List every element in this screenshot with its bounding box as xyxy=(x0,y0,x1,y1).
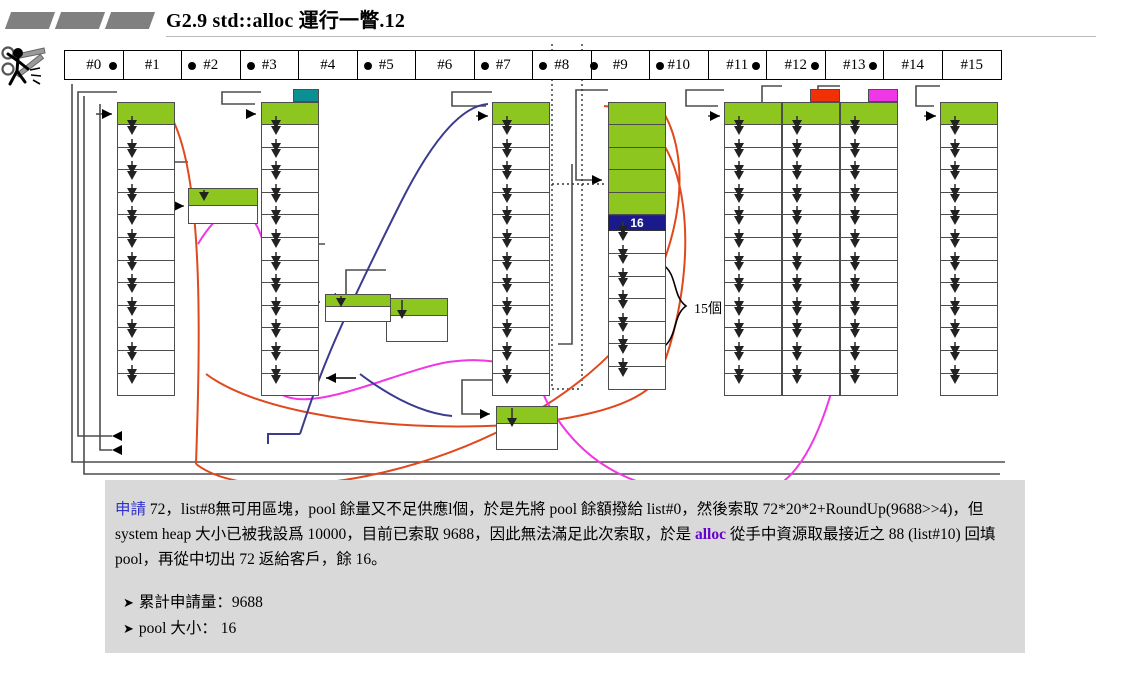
bucket-pointer-dot xyxy=(188,62,196,70)
next-pointer-arrow xyxy=(841,250,899,272)
list-chain-0 xyxy=(117,102,175,396)
next-pointer-arrow xyxy=(841,227,899,249)
bucket-pointer-dot xyxy=(364,62,372,70)
next-pointer-arrow xyxy=(262,340,320,362)
next-pointer-arrow xyxy=(841,340,899,362)
list-chain-7 xyxy=(492,102,550,396)
next-pointer-arrow xyxy=(783,340,841,362)
next-pointer-arrow xyxy=(493,114,551,136)
bucket-cell-5[interactable]: #5 xyxy=(358,51,417,79)
free-block-body xyxy=(386,316,448,342)
title-divider xyxy=(166,36,1096,37)
bucket-label: #5 xyxy=(379,57,394,74)
bucket-cell-1[interactable]: #1 xyxy=(124,51,183,79)
next-pointer-arrow xyxy=(841,295,899,317)
next-pointer-arrow xyxy=(118,363,176,385)
next-pointer-arrow xyxy=(262,250,320,272)
bucket-cell-7[interactable]: #7 xyxy=(475,51,534,79)
free-block-body xyxy=(325,307,391,322)
next-pointer-arrow xyxy=(262,272,320,294)
bucket-cell-8[interactable]: #8 xyxy=(533,51,592,79)
chain-cap-block xyxy=(293,89,319,102)
bucket-label: #8 xyxy=(554,57,569,74)
bucket-label: #7 xyxy=(496,57,511,74)
bucket-pointer-dot xyxy=(752,62,760,70)
bullet-total-requested: ➤累計申請量：9688 xyxy=(123,590,263,612)
next-pointer-arrow xyxy=(262,182,320,204)
chain-cap-block xyxy=(810,89,840,102)
next-pointer-arrow xyxy=(941,182,999,204)
bucket-pointer-dot xyxy=(811,62,819,70)
next-pointer-arrow xyxy=(725,204,783,226)
free-block-body xyxy=(188,206,258,224)
summary-bullets: ➤累計申請量：9688 ➤pool 大小： 16 xyxy=(105,585,1025,645)
bucket-label: #9 xyxy=(613,57,628,74)
next-pointer-arrow xyxy=(941,114,999,136)
next-pointer-arrow xyxy=(118,272,176,294)
bucket-cell-14[interactable]: #14 xyxy=(884,51,943,79)
next-pointer-arrow xyxy=(118,317,176,339)
bucket-label: #6 xyxy=(437,57,452,74)
link-navy-2 xyxy=(268,434,300,444)
free-node xyxy=(724,374,782,397)
next-pointer-arrow xyxy=(725,114,783,136)
bucket-pointer-dot xyxy=(590,62,598,70)
free-block-b xyxy=(386,298,448,342)
list-chain-11 xyxy=(724,102,782,396)
next-pointer-arrow xyxy=(725,295,783,317)
next-pointer-arrow xyxy=(941,363,999,385)
next-pointer-arrow xyxy=(725,363,783,385)
next-pointer-arrow xyxy=(941,340,999,362)
stick-figure-icon xyxy=(0,44,46,90)
next-pointer-arrow xyxy=(262,137,320,159)
bucket-label: #15 xyxy=(961,57,984,74)
allocator-diagram: #0#1#2#3#4#5#6#7#8#9#10#11#12#13#14#15 1… xyxy=(0,44,1136,484)
bucket-label: #14 xyxy=(902,57,925,74)
next-pointer-arrow xyxy=(783,272,841,294)
next-pointer-arrow xyxy=(118,159,176,181)
bullet-marker: ➤ xyxy=(123,622,134,637)
next-pointer-arrow xyxy=(493,137,551,159)
next-pointer-arrow xyxy=(493,317,551,339)
next-pointer-arrow xyxy=(609,333,667,355)
next-pointer-arrow xyxy=(262,363,320,385)
parallelogram-decoration-2 xyxy=(55,12,105,29)
allocated-block xyxy=(608,125,666,148)
bucket-pointer-dot xyxy=(869,62,877,70)
link-magenta-4 xyxy=(546,400,760,484)
next-pointer-arrow xyxy=(725,250,783,272)
next-pointer-arrow xyxy=(493,204,551,226)
allocated-block xyxy=(608,193,666,216)
next-pointer-arrow xyxy=(841,114,899,136)
next-pointer-arrow xyxy=(493,295,551,317)
next-pointer-arrow xyxy=(841,317,899,339)
next-pointer-arrow xyxy=(325,294,391,309)
bucket-cell-10[interactable]: #10 xyxy=(650,51,709,79)
bucket-cell-6[interactable]: #6 xyxy=(416,51,475,79)
next-pointer-arrow xyxy=(609,266,667,288)
next-pointer-arrow xyxy=(188,188,258,206)
next-pointer-arrow xyxy=(941,159,999,181)
bucket-pointer-dot xyxy=(656,62,664,70)
bucket-label: #2 xyxy=(203,57,218,74)
bucket-cell-15[interactable]: #15 xyxy=(943,51,1002,79)
next-pointer-arrow xyxy=(262,159,320,181)
allocated-block xyxy=(608,148,666,171)
next-pointer-arrow xyxy=(386,298,448,324)
next-pointer-arrow xyxy=(496,406,558,432)
next-pointer-arrow xyxy=(841,272,899,294)
next-pointer-arrow xyxy=(783,204,841,226)
next-pointer-arrow xyxy=(941,227,999,249)
next-pointer-arrow xyxy=(493,250,551,272)
next-pointer-arrow xyxy=(725,272,783,294)
link-magenta-1 xyxy=(198,210,270,354)
bullet-pool-size: ➤pool 大小： 16 xyxy=(123,616,236,638)
bullet-marker: ➤ xyxy=(123,596,134,611)
next-pointer-arrow xyxy=(783,227,841,249)
bucket-pointer-dot xyxy=(247,62,255,70)
next-pointer-arrow xyxy=(118,114,176,136)
free-node xyxy=(840,374,898,397)
free-block-d xyxy=(325,294,391,322)
next-pointer-arrow xyxy=(841,137,899,159)
bucket-label: #1 xyxy=(145,57,160,74)
bucket-label: #13 xyxy=(843,57,866,74)
next-pointer-arrow xyxy=(609,311,667,333)
next-pointer-arrow xyxy=(493,363,551,385)
bullet-text: 累計申請量：9688 xyxy=(139,594,263,611)
next-pointer-arrow xyxy=(118,137,176,159)
bucket-pointer-dot xyxy=(481,62,489,70)
next-pointer-arrow xyxy=(493,227,551,249)
free-list-bucket-header: #0#1#2#3#4#5#6#7#8#9#10#11#12#13#14#15 xyxy=(64,50,1002,80)
bucket-label: #0 xyxy=(86,57,101,74)
next-pointer-arrow xyxy=(118,250,176,272)
free-block-body xyxy=(496,424,558,450)
next-pointer-arrow xyxy=(118,295,176,317)
parallelogram-decoration-3 xyxy=(105,12,155,29)
free-node xyxy=(492,374,550,397)
bucket-label: #3 xyxy=(262,57,277,74)
next-pointer-arrow xyxy=(783,182,841,204)
bucket-label: #4 xyxy=(320,57,335,74)
explanation-panel: 申請 72，list#8無可用區塊，pool 餘量又不足供應l個，於是先將 po… xyxy=(105,489,1025,561)
bucket-cell-12[interactable]: #12 xyxy=(767,51,826,79)
next-pointer-arrow xyxy=(725,182,783,204)
next-pointer-arrow xyxy=(783,114,841,136)
next-pointer-arrow xyxy=(118,204,176,226)
next-pointer-arrow xyxy=(118,340,176,362)
free-block-a xyxy=(188,188,258,224)
free-node xyxy=(117,374,175,397)
next-pointer-arrow xyxy=(841,204,899,226)
next-pointer-arrow xyxy=(493,272,551,294)
link-navy-3 xyxy=(360,374,452,416)
free-node xyxy=(940,374,998,397)
next-pointer-arrow xyxy=(118,227,176,249)
bucket-cell-3[interactable]: #3 xyxy=(241,51,300,79)
next-pointer-arrow xyxy=(609,288,667,310)
next-pointer-arrow xyxy=(262,114,320,136)
page-title: G2.9 std::alloc 運行一瞥.12 xyxy=(166,4,405,33)
next-pointer-arrow xyxy=(841,363,899,385)
bucket-cell-9[interactable]: #9 xyxy=(592,51,651,79)
free-node xyxy=(782,374,840,397)
bucket-cell-0[interactable]: #0 xyxy=(65,51,124,79)
next-pointer-arrow xyxy=(941,250,999,272)
next-pointer-arrow xyxy=(725,159,783,181)
note-segment-purple: alloc xyxy=(695,526,726,543)
next-pointer-arrow xyxy=(725,317,783,339)
next-pointer-arrow xyxy=(262,295,320,317)
next-pointer-arrow xyxy=(262,317,320,339)
next-pointer-arrow xyxy=(783,137,841,159)
next-pointer-arrow xyxy=(725,137,783,159)
bucket-cell-11[interactable]: #11 xyxy=(709,51,768,79)
free-block-c xyxy=(496,406,558,450)
bullet-text: pool 大小： 16 xyxy=(139,620,236,637)
next-pointer-arrow xyxy=(609,356,667,378)
next-pointer-arrow xyxy=(783,295,841,317)
list-chain-3 xyxy=(261,102,319,396)
next-pointer-arrow xyxy=(725,227,783,249)
next-pointer-arrow xyxy=(783,363,841,385)
list-chain-12 xyxy=(782,102,840,396)
title-bar: G2.9 std::alloc 運行一瞥.12 xyxy=(0,0,1136,44)
bucket-pointer-dot xyxy=(109,62,117,70)
chain-cap-block xyxy=(868,89,898,102)
note-segment-blue: 申請 xyxy=(115,501,150,518)
next-pointer-arrow xyxy=(609,220,667,242)
bucket-label: #10 xyxy=(668,57,691,74)
allocated-block xyxy=(608,102,666,125)
parallelogram-decoration-1 xyxy=(5,12,55,29)
list-chain-13 xyxy=(840,102,898,396)
cut-guides xyxy=(552,44,604,389)
next-pointer-arrow xyxy=(118,182,176,204)
next-pointer-arrow xyxy=(493,340,551,362)
link-navy-1 xyxy=(300,104,488,434)
next-pointer-arrow xyxy=(783,250,841,272)
next-pointer-arrow xyxy=(493,182,551,204)
allocated-block xyxy=(608,170,666,193)
brace-count-label: 15個 xyxy=(694,298,722,318)
next-pointer-arrow xyxy=(725,340,783,362)
next-pointer-arrow xyxy=(941,295,999,317)
next-pointer-arrow xyxy=(783,159,841,181)
next-pointer-arrow xyxy=(783,317,841,339)
bucket-label: #12 xyxy=(785,57,808,74)
next-pointer-arrow xyxy=(609,243,667,265)
next-pointer-arrow xyxy=(941,204,999,226)
next-pointer-arrow xyxy=(941,137,999,159)
free-node xyxy=(608,367,666,390)
next-pointer-arrow xyxy=(841,182,899,204)
bucket-cell-2[interactable]: #2 xyxy=(182,51,241,79)
next-pointer-arrow xyxy=(841,159,899,181)
next-pointer-arrow xyxy=(493,159,551,181)
next-pointer-arrow xyxy=(262,227,320,249)
next-pointer-arrow xyxy=(941,272,999,294)
bucket-cell-4[interactable]: #4 xyxy=(299,51,358,79)
next-pointer-arrow xyxy=(262,204,320,226)
next-pointer-arrow xyxy=(941,317,999,339)
explanation-text: 申請 72，list#8無可用區塊，pool 餘量又不足供應l個，於是先將 po… xyxy=(115,497,1015,572)
bucket-label: #11 xyxy=(726,57,748,74)
bucket-pointer-dot xyxy=(539,62,547,70)
free-node xyxy=(261,374,319,397)
list-chain-9: 16 xyxy=(608,102,666,390)
bucket-cell-13[interactable]: #13 xyxy=(826,51,885,79)
list-chain-15 xyxy=(940,102,998,396)
